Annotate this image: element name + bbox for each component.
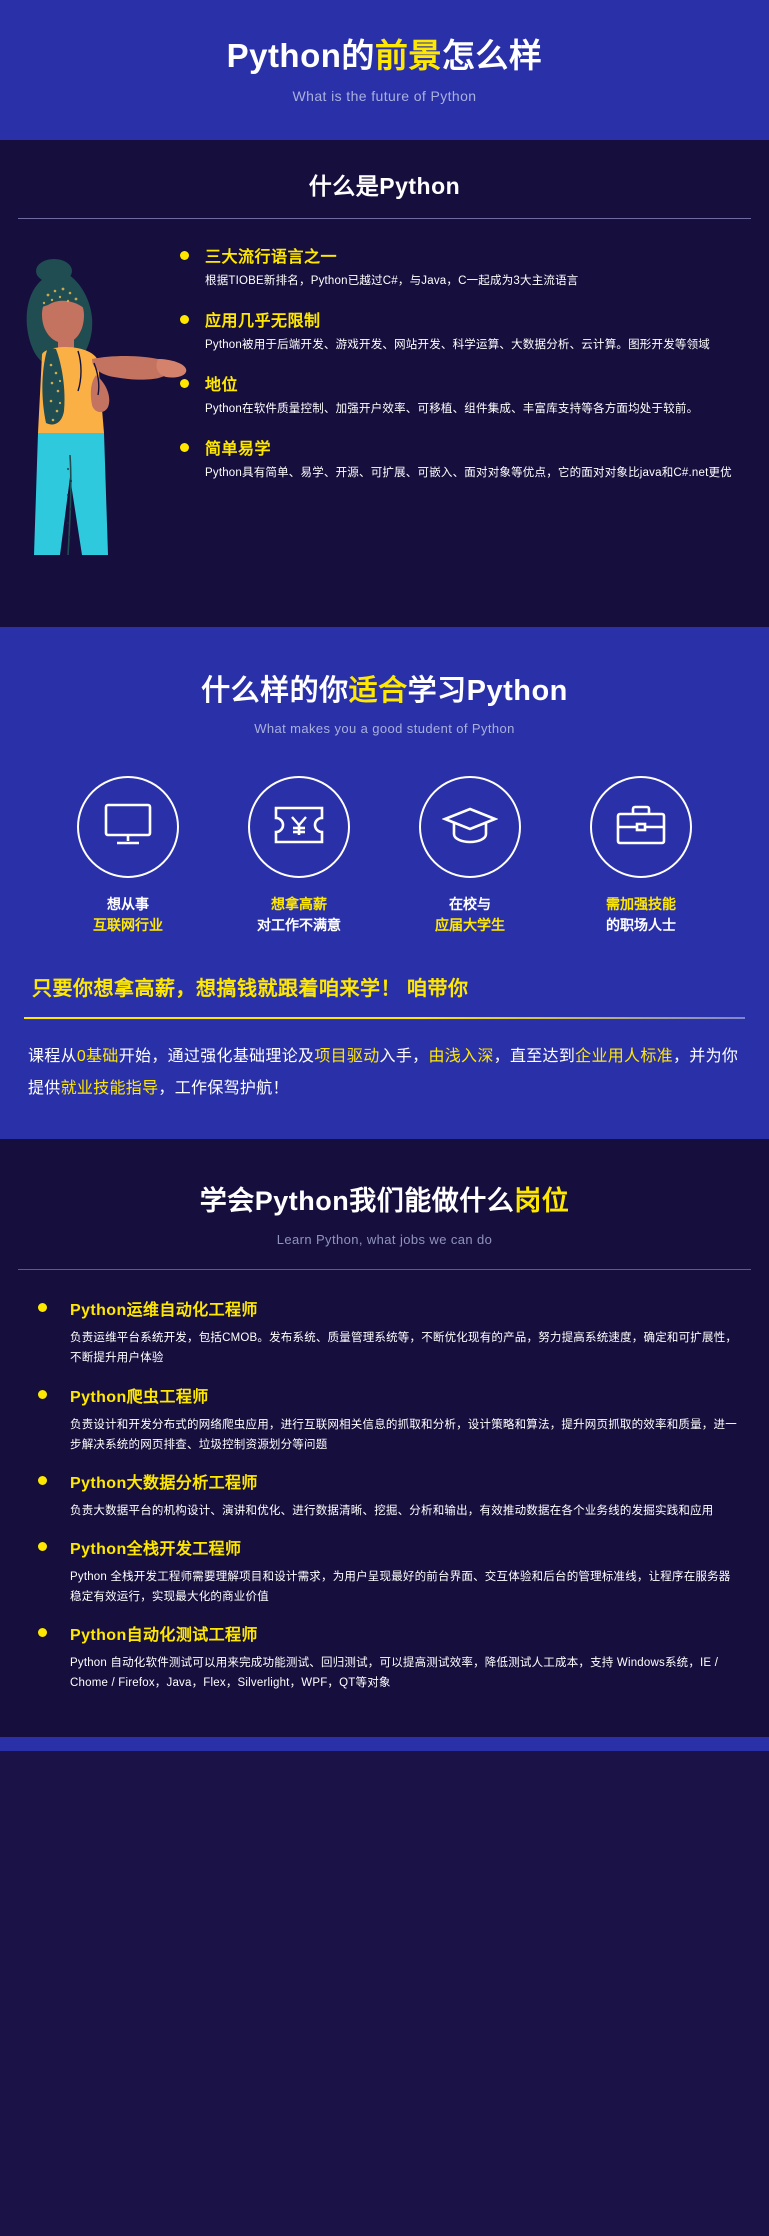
jobs-subtitle: Learn Python, what jobs we can do (0, 1232, 769, 1247)
feature-heading: 三大流行语言之一 (205, 243, 751, 267)
para-highlight: 就业技能指导 (61, 1080, 159, 1097)
briefcase-icon (615, 803, 667, 852)
feature-list: 三大流行语言之一 根据TIOBE新排名，Python已越过C#，与Java，C一… (205, 219, 769, 482)
feature-item: 应用几乎无限制 Python被用于后端开发、游戏开发、网站开发、科学运算、大数据… (205, 307, 751, 355)
feature-heading: 地位 (205, 371, 751, 395)
para-seg: 课程从 (28, 1048, 77, 1065)
job-title: Python大数据分析工程师 (70, 1469, 739, 1493)
jobs-title-highlight: 岗位 (514, 1186, 569, 1216)
bullet-dot-icon (38, 1303, 47, 1312)
slogan-text: 只要你想拿高薪，想搞钱就跟着咱来学！ 咱带你 (24, 972, 745, 1001)
woman-pointing-illustration (8, 255, 188, 615)
feature-body: Python被用于后端开发、游戏开发、网站开发、科学运算、大数据分析、云计算。图… (205, 337, 751, 355)
icon-circle (419, 776, 521, 878)
job-title: Python自动化测试工程师 (70, 1621, 739, 1645)
audience-item: 想从事 互联网行业 (61, 776, 196, 936)
job-item: Python大数据分析工程师 负责大数据平台的机构设计、演讲和优化、进行数据清晰… (30, 1469, 739, 1521)
para-seg: ，直至达到 (494, 1048, 576, 1065)
feature-body: 根据TIOBE新排名，Python已越过C#，与Java，C一起成为3大主流语言 (205, 273, 751, 291)
audience-caption: 想从事 互联网行业 (61, 894, 196, 936)
audience-item: 想拿高薪 对工作不满意 (232, 776, 367, 936)
icon-circle (248, 776, 350, 878)
job-item: Python自动化测试工程师 Python 自动化软件测试可以用来完成功能测试、… (30, 1621, 739, 1693)
audience-line2: 互联网行业 (61, 915, 196, 936)
job-title: Python运维自动化工程师 (70, 1296, 739, 1320)
bullet-dot-icon (38, 1628, 47, 1637)
section-title-who: 什么样的你适合学习Python (0, 667, 769, 709)
job-description: 负责设计和开发分布式的网络爬虫应用，进行互联网相关信息的抓取和分析，设计策略和算… (70, 1415, 739, 1455)
feature-body: Python在软件质量控制、加强开户效率、可移植、组件集成、丰富库支持等各方面均… (205, 401, 751, 419)
who-title-post: 学习Python (408, 675, 568, 707)
hero-title-post: 怎么样 (442, 37, 543, 74)
bullet-dot-icon (38, 1390, 47, 1399)
audience-line2: 对工作不满意 (232, 915, 367, 936)
hero-subtitle: What is the future of Python (0, 88, 769, 104)
section-title-jobs: 学会Python我们能做什么岗位 (0, 1139, 769, 1218)
who-title-pre: 什么样的你 (201, 675, 349, 707)
job-title: Python爬虫工程师 (70, 1383, 739, 1407)
para-highlight: 由浅入深 (428, 1048, 493, 1065)
bullet-dot-icon (38, 1542, 47, 1551)
para-highlight: 0基础 (77, 1048, 119, 1065)
job-description: 负责大数据平台的机构设计、演讲和优化、进行数据清晰、挖掘、分析和输出，有效推动数… (70, 1501, 739, 1521)
infographic-page: Python的前景怎么样 What is the future of Pytho… (0, 0, 769, 1751)
bullet-dot-icon (180, 315, 189, 324)
feature-item: 简单易学 Python具有简单、易学、开源、可扩展、可嵌入、面对对象等优点，它的… (205, 435, 751, 483)
what-is-python-section: 什么是Python (0, 140, 769, 627)
audience-line1: 在校与 (403, 894, 538, 915)
bullet-dot-icon (38, 1476, 47, 1485)
icon-circle (77, 776, 179, 878)
feature-item: 三大流行语言之一 根据TIOBE新排名，Python已越过C#，与Java，C一… (205, 243, 751, 291)
who-should-learn-section: 什么样的你适合学习Python What makes you a good st… (0, 627, 769, 1139)
feature-body: Python具有简单、易学、开源、可扩展、可嵌入、面对对象等优点，它的面对对象比… (205, 465, 751, 483)
job-list: Python运维自动化工程师 负责运维平台系统开发，包括CMOB。发布系统、质量… (0, 1270, 769, 1693)
hero-title-pre: Python的 (227, 37, 375, 74)
audience-line1: 需加强技能 (574, 894, 709, 915)
job-item: Python爬虫工程师 负责设计和开发分布式的网络爬虫应用，进行互联网相关信息的… (30, 1383, 739, 1455)
bullet-dot-icon (180, 379, 189, 388)
job-title: Python全栈开发工程师 (70, 1535, 739, 1559)
divider (24, 1017, 745, 1019)
icon-circle (590, 776, 692, 878)
section-title-what: 什么是Python (0, 140, 769, 218)
hero-section: Python的前景怎么样 What is the future of Pytho… (0, 0, 769, 140)
para-highlight: 企业用人标准 (575, 1048, 673, 1065)
feature-item: 地位 Python在软件质量控制、加强开户效率、可移植、组件集成、丰富库支持等各… (205, 371, 751, 419)
audience-caption: 想拿高薪 对工作不满意 (232, 894, 367, 936)
audience-line1: 想拿高薪 (232, 894, 367, 915)
audience-line2: 应届大学生 (403, 915, 538, 936)
job-description: Python 全栈开发工程师需要理解项目和设计需求，为用户呈现最好的前台界面、交… (70, 1567, 739, 1607)
feature-heading: 应用几乎无限制 (205, 307, 751, 331)
jobs-section: 学会Python我们能做什么岗位 Learn Python, what jobs… (0, 1139, 769, 1737)
job-description: 负责运维平台系统开发，包括CMOB。发布系统、质量管理系统等，不断优化现有的产品… (70, 1328, 739, 1368)
graduation-cap-icon (442, 804, 498, 851)
page-title: Python的前景怎么样 (0, 38, 769, 74)
audience-line2: 的职场人士 (574, 915, 709, 936)
para-seg: ，工作保驾护航！ (158, 1080, 288, 1097)
para-seg: 开始，通过强化基础理论及 (119, 1048, 315, 1065)
footer-bar (0, 1737, 769, 1751)
bullet-dot-icon (180, 443, 189, 452)
hero-title-highlight: 前景 (375, 37, 442, 74)
para-highlight: 项目驱动 (314, 1048, 379, 1065)
job-item: Python全栈开发工程师 Python 全栈开发工程师需要理解项目和设计需求，… (30, 1535, 739, 1607)
job-description: Python 自动化软件测试可以用来完成功能测试、回归测试，可以提高测试效率，降… (70, 1653, 739, 1693)
feature-heading: 简单易学 (205, 435, 751, 459)
jobs-title-pre: 学会Python我们能做什么 (200, 1186, 515, 1216)
who-subtitle: What makes you a good student of Python (0, 721, 769, 736)
audience-caption: 在校与 应届大学生 (403, 894, 538, 936)
course-paragraph: 课程从0基础开始，通过强化基础理论及项目驱动入手，由浅入深，直至达到企业用人标准… (28, 1041, 741, 1105)
money-ticket-icon (272, 804, 326, 851)
bullet-dot-icon (180, 251, 189, 260)
audience-line1: 想从事 (61, 894, 196, 915)
monitor-icon (102, 802, 154, 853)
audience-item: 需加强技能 的职场人士 (574, 776, 709, 936)
audience-icon-row: 想从事 互联网行业 (0, 776, 769, 936)
para-seg: 入手， (380, 1048, 429, 1065)
who-title-highlight: 适合 (349, 675, 408, 707)
audience-caption: 需加强技能 的职场人士 (574, 894, 709, 936)
job-item: Python运维自动化工程师 负责运维平台系统开发，包括CMOB。发布系统、质量… (30, 1296, 739, 1368)
audience-item: 在校与 应届大学生 (403, 776, 538, 936)
